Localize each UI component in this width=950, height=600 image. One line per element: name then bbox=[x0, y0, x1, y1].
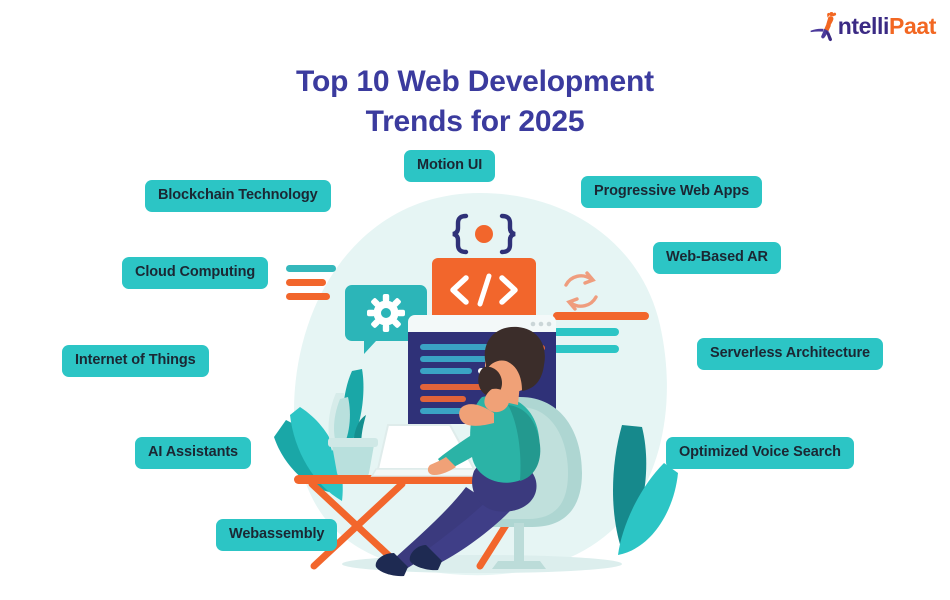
code-tag-card bbox=[432, 258, 536, 322]
intellipaat-logo[interactable]: ntelliPaat bbox=[808, 8, 936, 44]
page-title: Top 10 Web Development Trends for 2025 bbox=[0, 62, 950, 141]
logo-text-primary: ntelli bbox=[838, 13, 889, 39]
trend-pill-internet-of-things[interactable]: Internet of Things bbox=[62, 345, 209, 377]
intellipaat-logo-mark bbox=[808, 9, 842, 43]
trend-pill-progressive-web-apps[interactable]: Progressive Web Apps bbox=[581, 176, 762, 208]
trend-pill-webassembly[interactable]: Webassembly bbox=[216, 519, 337, 551]
page-title-line-2: Trends for 2025 bbox=[0, 102, 950, 142]
trend-pill-web-based-ar[interactable]: Web-Based AR bbox=[653, 242, 781, 274]
gear-icon bbox=[367, 294, 405, 332]
trend-pill-cloud-computing[interactable]: Cloud Computing bbox=[122, 257, 268, 289]
trend-pill-ai-assistants[interactable]: AI Assistants bbox=[135, 437, 251, 469]
trend-pill-optimized-voice-search[interactable]: Optimized Voice Search bbox=[666, 437, 854, 469]
logo-text-secondary: Paat bbox=[889, 13, 936, 39]
page-title-line-1: Top 10 Web Development bbox=[0, 62, 950, 102]
intellipaat-logo-text: ntelliPaat bbox=[838, 15, 936, 38]
trend-pill-serverless-architecture[interactable]: Serverless Architecture bbox=[697, 338, 883, 370]
trend-pill-motion-ui[interactable]: Motion UI bbox=[404, 150, 495, 182]
infographic-canvas: ntelliPaat Top 10 Web Development Trends… bbox=[0, 0, 950, 600]
trend-pill-blockchain-technology[interactable]: Blockchain Technology bbox=[145, 180, 331, 212]
